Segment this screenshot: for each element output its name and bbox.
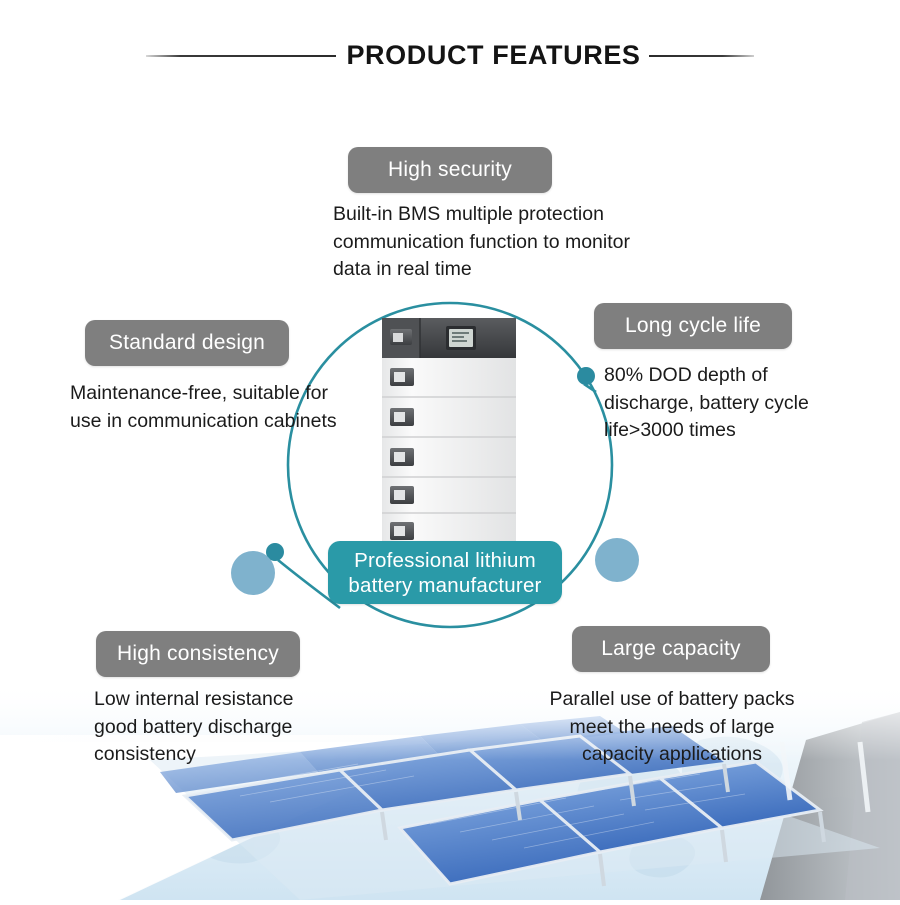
center-badge-line2: battery manufacturer (348, 573, 541, 598)
badge-high-security[interactable]: High security (348, 147, 552, 193)
text-high-security: Built-in BMS multiple protection communi… (333, 201, 663, 284)
infographic-canvas: PRODUCT FEATURES (0, 0, 900, 900)
battery-module-4 (382, 478, 516, 514)
battery-module-1 (382, 358, 516, 398)
center-badge-line1: Professional lithium (354, 548, 536, 573)
text-high-consistency: Low internal resistance good battery dis… (94, 686, 364, 769)
badge-large-capacity-label: Large capacity (601, 637, 740, 661)
page-title: PRODUCT FEATURES (346, 40, 640, 71)
badge-standard-design-label: Standard design (109, 331, 265, 355)
page-title-row: PRODUCT FEATURES (0, 40, 900, 71)
battery-module-2 (382, 398, 516, 438)
title-rule-left (146, 55, 336, 57)
product-image-battery-stack (360, 300, 540, 560)
badge-center-manufacturer[interactable]: Professional lithium battery manufacture… (328, 541, 562, 604)
badge-high-consistency[interactable]: High consistency (96, 631, 300, 677)
title-rule-right (649, 55, 754, 57)
text-standard-design: Maintenance-free, suitable for use in co… (70, 380, 340, 435)
text-large-capacity: Parallel use of battery packs meet the n… (520, 686, 824, 769)
text-long-cycle-life: 80% DOD depth of discharge, battery cycl… (604, 362, 854, 445)
badge-large-capacity[interactable]: Large capacity (572, 626, 770, 672)
battery-module-3 (382, 438, 516, 478)
battery-module-control (382, 318, 516, 358)
badge-long-cycle-life-label: Long cycle life (625, 314, 761, 338)
badge-long-cycle-life[interactable]: Long cycle life (594, 303, 792, 349)
badge-standard-design[interactable]: Standard design (85, 320, 289, 366)
badge-high-security-label: High security (388, 158, 512, 182)
badge-high-consistency-label: High consistency (117, 642, 279, 666)
